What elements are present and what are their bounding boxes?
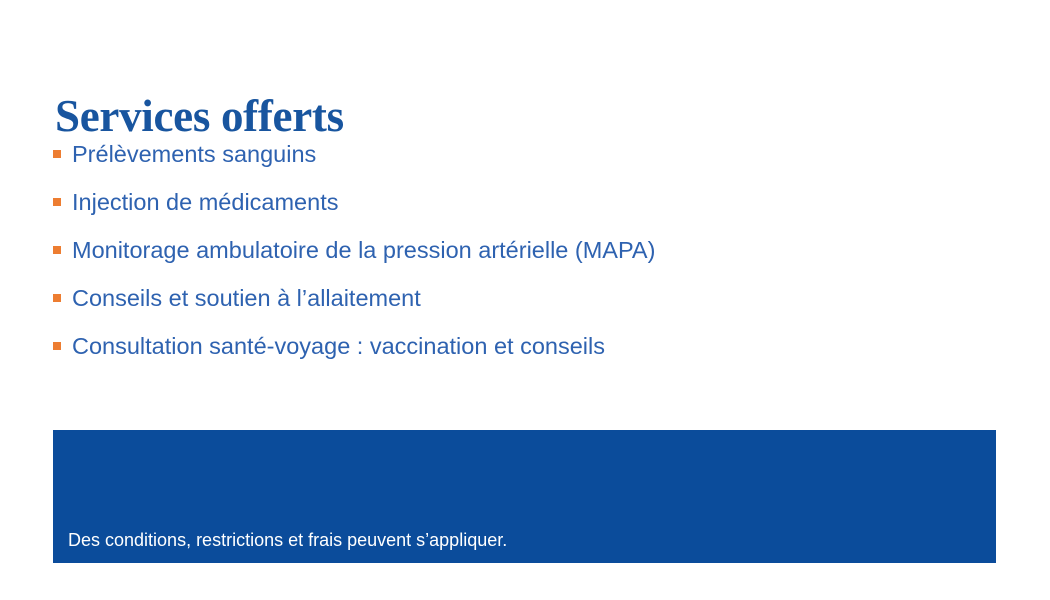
list-item-label: Consultation santé-voyage : vaccination … (72, 331, 605, 362)
square-bullet-icon (53, 246, 61, 254)
list-item-label: Conseils et soutien à l’allaitement (72, 283, 421, 314)
footer-banner: Des conditions, restrictions et frais pe… (53, 430, 996, 563)
list-item: Consultation santé-voyage : vaccination … (53, 331, 953, 379)
list-item: Monitorage ambulatoire de la pression ar… (53, 235, 953, 283)
list-item: Conseils et soutien à l’allaitement (53, 283, 953, 331)
page-title: Services offerts (55, 90, 344, 142)
list-item-label: Monitorage ambulatoire de la pression ar… (72, 235, 655, 266)
list-item: Injection de médicaments (53, 187, 953, 235)
list-item: Prélèvements sanguins (53, 139, 953, 187)
services-bullet-list: Prélèvements sanguins Injection de médic… (53, 139, 953, 379)
list-item-label: Injection de médicaments (72, 187, 338, 218)
square-bullet-icon (53, 342, 61, 350)
slide-canvas: Services offerts Prélèvements sanguins I… (0, 0, 1050, 600)
square-bullet-icon (53, 294, 61, 302)
square-bullet-icon (53, 150, 61, 158)
square-bullet-icon (53, 198, 61, 206)
list-item-label: Prélèvements sanguins (72, 139, 316, 170)
footer-disclaimer-text: Des conditions, restrictions et frais pe… (68, 528, 507, 552)
